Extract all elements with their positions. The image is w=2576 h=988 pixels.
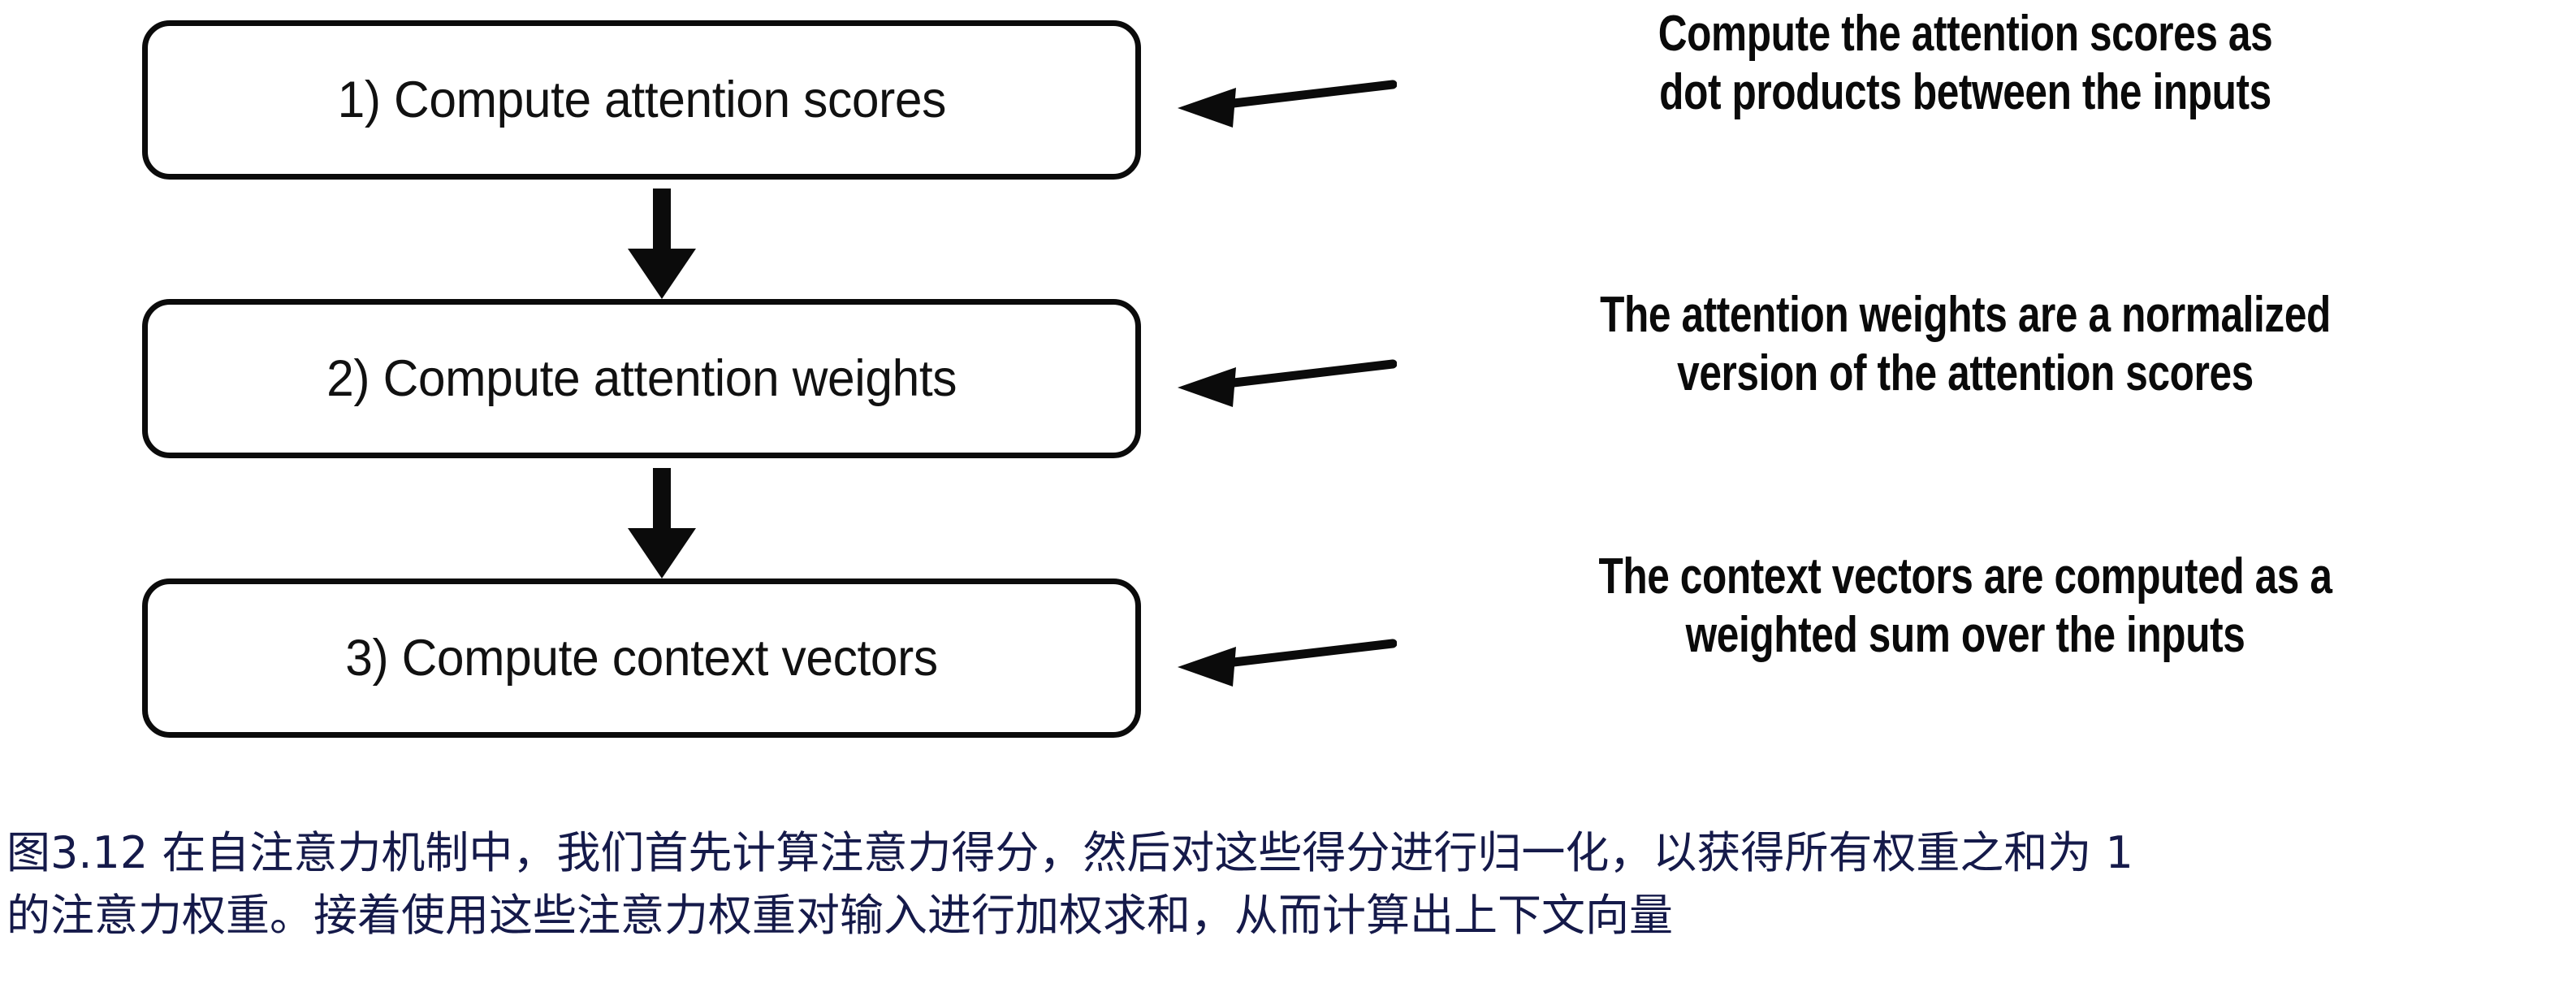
figure-caption-line-2: 的注意力权重。接着使用这些注意力权重对输入进行加权求和，从而计算出上下文向量 (6, 885, 2573, 947)
callout-arrow-left-icon-2 (1161, 343, 1397, 416)
annotation-step-1-line-1: Compute the attention scores as (1511, 5, 2420, 63)
annotation-step-3-line-1: The context vectors are computed as a (1511, 548, 2420, 606)
annotation-step-2-line-2: version of the attention scores (1511, 344, 2420, 403)
annotation-step-2-line-1: The attention weights are a normalized (1511, 286, 2420, 344)
flow-arrow-down-icon-1 (605, 188, 719, 302)
step-box-2-label: 2) Compute attention weights (326, 353, 957, 405)
figure-root: 1) Compute attention scores 2) Compute a… (0, 0, 2576, 988)
flow-arrow-down-icon-2 (605, 468, 719, 582)
figure-caption: 图3.12 在自注意力机制中，我们首先计算注意力得分，然后对这些得分进行归一化，… (6, 822, 2573, 947)
step-box-1-label: 1) Compute attention scores (337, 75, 945, 126)
step-box-1: 1) Compute attention scores (142, 20, 1141, 180)
step-box-3: 3) Compute context vectors (142, 578, 1141, 738)
annotation-step-1-line-2: dot products between the inputs (1511, 63, 2420, 122)
callout-arrow-left-icon-3 (1161, 622, 1397, 695)
annotation-step-3-line-2: weighted sum over the inputs (1511, 606, 2420, 665)
callout-arrow-left-icon-1 (1161, 63, 1397, 136)
annotation-step-3: The context vectors are computed as a we… (1397, 548, 2534, 665)
step-box-3-label: 3) Compute context vectors (345, 633, 938, 684)
step-box-2: 2) Compute attention weights (142, 299, 1141, 458)
flow-diagram: 1) Compute attention scores 2) Compute a… (0, 0, 2576, 780)
figure-caption-line-1: 图3.12 在自注意力机制中，我们首先计算注意力得分，然后对这些得分进行归一化，… (6, 822, 2573, 885)
annotation-step-2: The attention weights are a normalized v… (1397, 286, 2534, 403)
annotation-step-1: Compute the attention scores as dot prod… (1397, 5, 2534, 122)
